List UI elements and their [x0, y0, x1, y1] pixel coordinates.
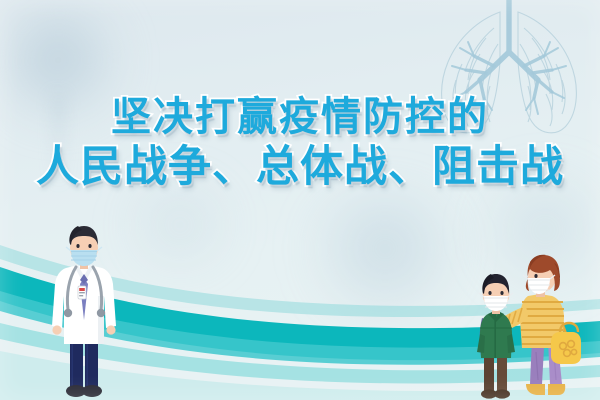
doctor-figure	[38, 220, 130, 398]
family-figures	[466, 252, 594, 400]
headline-line-2: 人民战争、总体战、阻击战	[0, 145, 600, 191]
poster-canvas: 坚决打赢疫情防控的 人民战争、总体战、阻击战	[0, 0, 600, 400]
boy-figure	[477, 274, 515, 399]
headline-line-1: 坚决打赢疫情防控的	[0, 96, 600, 138]
poster-headline: 坚决打赢疫情防控的 人民战争、总体战、阻击战	[0, 96, 600, 191]
